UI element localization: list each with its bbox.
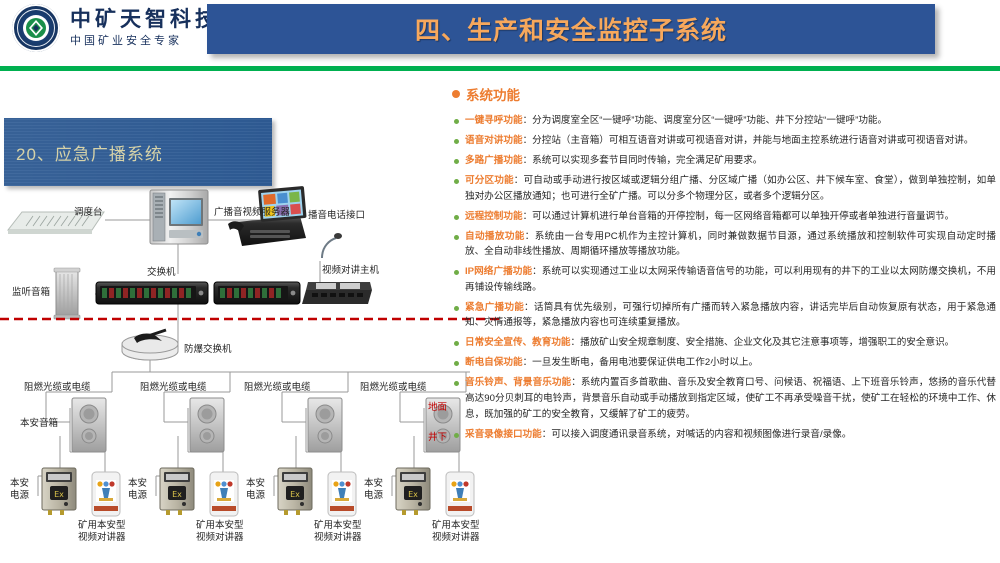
list-item-text: ：播放矿山安全规章制度、安全措施、企业文化及其它注意事项等，增强职工的安全意识。	[571, 337, 955, 348]
mining-video-intercom-icon-1	[92, 472, 120, 516]
list-item-term: 一键寻呼功能	[465, 115, 523, 126]
label-flame-retardant-cable-4: 阻燃光缆或电缆	[360, 382, 427, 394]
list-item-term: 音乐铃声、背景音乐功能	[465, 377, 571, 388]
slide-title-banner: 四、生产和安全监控子系统	[207, 4, 935, 54]
list-item-text: ：分为调度室全区“一键呼”功能、调度室分区“一键呼”功能、井下分控站“一键呼”功…	[523, 115, 888, 126]
system-functions-heading: 系统功能	[452, 84, 996, 104]
list-item-term: 自动播放功能	[465, 231, 525, 242]
intrinsic-safe-power-supply-icon-4: Ex	[396, 468, 430, 515]
list-item-term: 日常安全宣传、教育功能	[465, 337, 571, 348]
label-explosion-proof-switch: 防爆交换机	[184, 344, 232, 356]
company-emblem-icon	[12, 4, 60, 52]
section-title: 20、应急广播系统	[16, 140, 163, 165]
list-item-text: ：话筒具有优先级别，可强行切掉所有广播而转入紧急播放内容，讲话完毕后自动恢复原有…	[465, 302, 996, 329]
label-surface: 地面	[428, 402, 447, 414]
mining-video-intercom-icon-4	[446, 472, 474, 516]
label-flame-retardant-cable-2: 阻燃光缆或电缆	[140, 382, 207, 394]
section-title-banner: 20、应急广播系统	[4, 118, 272, 186]
emergency-broadcast-topology-diagram: Ex Ex Ex	[0, 186, 500, 563]
intrinsic-safe-power-supply-icon-1: Ex	[42, 468, 76, 515]
header-divider	[0, 66, 1000, 71]
label-broadcast-phone-interface: 播音电话接口	[308, 210, 365, 222]
list-item: 紧急广播功能：话筒具有优先级别，可强行切掉所有广播而转入紧急播放内容，讲话完毕后…	[452, 300, 996, 331]
company-logo: 中矿天智科技 中国矿业安全专家	[12, 4, 220, 52]
left-panel: 20、应急广播系统	[0, 76, 500, 563]
list-item-text: ：可以通过计算机进行单台音箱的开停控制，每一区网络音箱都可以单独开停或者单独进行…	[523, 211, 955, 222]
company-name: 中矿天智科技	[70, 9, 220, 30]
mining-video-intercom-icon-3	[328, 472, 356, 516]
explosion-proof-switch-icon	[122, 330, 178, 360]
list-item: 音乐铃声、背景音乐功能：系统内置百多首歌曲、音乐及安全教育口号、问候语、祝福语、…	[452, 375, 996, 422]
intrinsic-safe-power-supply-icon-3: Ex	[278, 468, 312, 515]
list-item: 断电自保功能：一旦发生断电，备用电池要保证供电工作2小时以上。	[452, 355, 996, 371]
list-item-text: ：一旦发生断电，备用电池要保证供电工作2小时以上。	[523, 357, 759, 368]
heading-bullet-icon	[452, 90, 460, 98]
svg-text:Ex: Ex	[172, 490, 182, 499]
label-video-intercom-2: 矿用本安型视频对讲器	[196, 520, 244, 544]
list-item: IP网络广播功能：系统可以实现通过工业以太网采传输语音信号的功能，可以利用现有的…	[452, 264, 996, 295]
list-item: 远程控制功能：可以通过计算机进行单台音箱的开停控制，每一区网络音箱都可以单独开停…	[452, 209, 996, 225]
list-item-text: ：系统可以实现多套节目同时传输，完全满足矿用要求。	[523, 155, 763, 166]
intrinsic-safe-speaker-icon-3	[308, 398, 342, 452]
svg-text:Ex: Ex	[408, 490, 418, 499]
label-video-intercom-host: 视频对讲主机	[322, 265, 379, 277]
list-item-term: 可分区功能	[465, 175, 514, 186]
network-switch-icon-2	[214, 282, 300, 304]
list-item: 可分区功能：可自动或手动进行按区域或逻辑分组广播、分区域广播（如办公区、井下候车…	[452, 173, 996, 204]
intrinsic-safe-speaker-icon-1	[72, 398, 106, 452]
list-item-term: 断电自保功能	[465, 357, 523, 368]
company-tagline: 中国矿业安全专家	[70, 36, 220, 47]
list-item-term: 语音对讲功能	[465, 135, 523, 146]
label-video-intercom-4: 矿用本安型视频对讲器	[432, 520, 480, 544]
label-flame-retardant-cable-1: 阻燃光缆或电缆	[24, 382, 91, 394]
svg-text:Ex: Ex	[290, 490, 300, 499]
list-item-term: 远程控制功能	[465, 211, 523, 222]
list-item: 多路广播功能：系统可以实现多套节目同时传输，完全满足矿用要求。	[452, 153, 996, 169]
label-flame-retardant-cable-3: 阻燃光缆或电缆	[244, 382, 311, 394]
label-video-intercom-1: 矿用本安型视频对讲器	[78, 520, 126, 544]
label-dispatch-console: 调度台	[74, 207, 103, 219]
list-item-text: ：可以接入调度通讯录音系统，对喊话的内容和视频图像进行录音/录像。	[542, 429, 852, 440]
list-item-term: 采音录像接口功能	[465, 429, 542, 440]
list-item-text: ：系统由一台专用PC机作为主控计算机，同时兼做数据节目源，通过系统播放和控制软件…	[465, 231, 996, 258]
monitor-speaker-icon	[54, 268, 80, 319]
system-functions-heading-label: 系统功能	[466, 84, 520, 104]
svg-text:Ex: Ex	[54, 490, 64, 499]
list-item-term: 紧急广播功能	[465, 302, 524, 313]
label-intrinsic-power-4: 本安电源	[364, 478, 383, 502]
list-item: 语音对讲功能：分控站（主音箱）可相互语音对讲或可视语音对讲，并能与地面主控系统进…	[452, 133, 996, 149]
list-item: 自动播放功能：系统由一台专用PC机作为主控计算机，同时兼做数据节目源，通过系统播…	[452, 229, 996, 260]
broadcast-av-server-icon	[150, 190, 208, 244]
topology-svg: Ex Ex Ex	[0, 186, 500, 563]
label-switch: 交换机	[147, 267, 176, 279]
label-intrinsic-power-1: 本安电源	[10, 478, 29, 502]
list-item: 采音录像接口功能：可以接入调度通讯录音系统，对喊话的内容和视频图像进行录音/录像…	[452, 427, 996, 443]
list-item-text: ：分控站（主音箱）可相互语音对讲或可视语音对讲，并能与地面主控系统进行语音对讲或…	[523, 135, 974, 146]
intrinsic-safe-speaker-icon-2	[190, 398, 224, 452]
system-functions-list: 一键寻呼功能：分为调度室全区“一键呼”功能、调度室分区“一键呼”功能、井下分控站…	[452, 113, 996, 442]
label-intrinsic-power-3: 本安电源	[246, 478, 265, 502]
right-panel: 系统功能 一键寻呼功能：分为调度室全区“一键呼”功能、调度室分区“一键呼”功能、…	[452, 84, 996, 424]
label-video-intercom-3: 矿用本安型视频对讲器	[314, 520, 362, 544]
label-monitor-speaker: 监听音箱	[12, 287, 50, 299]
list-item-term: 多路广播功能	[465, 155, 523, 166]
page-title: 四、生产和安全监控子系统	[415, 11, 727, 47]
list-item: 一键寻呼功能：分为调度室全区“一键呼”功能、调度室分区“一键呼”功能、井下分控站…	[452, 113, 996, 129]
list-item-term: IP网络广播功能	[465, 266, 532, 277]
intrinsic-safe-power-supply-icon-2: Ex	[160, 468, 194, 515]
label-broadcast-av-server: 广播音视频服务器	[214, 207, 290, 219]
label-intrinsic-power-2: 本安电源	[128, 478, 147, 502]
list-item: 日常安全宣传、教育功能：播放矿山安全规章制度、安全措施、企业文化及其它注意事项等…	[452, 335, 996, 351]
list-item-text: ：系统可以实现通过工业以太网采传输语音信号的功能，可以利用现有的井下的工业以太网…	[465, 266, 996, 293]
label-intrinsic-safe-speaker: 本安音箱	[20, 418, 58, 430]
page-header: 中矿天智科技 中国矿业安全专家 四、生产和安全监控子系统	[0, 0, 1000, 62]
network-switch-icon-1	[96, 282, 208, 304]
mining-video-intercom-icon-2	[210, 472, 238, 516]
list-item-text: ：可自动或手动进行按区域或逻辑分组广播、分区域广播（如办公区、井下候车室、食堂）…	[465, 175, 996, 202]
label-underground: 井下	[428, 432, 447, 444]
